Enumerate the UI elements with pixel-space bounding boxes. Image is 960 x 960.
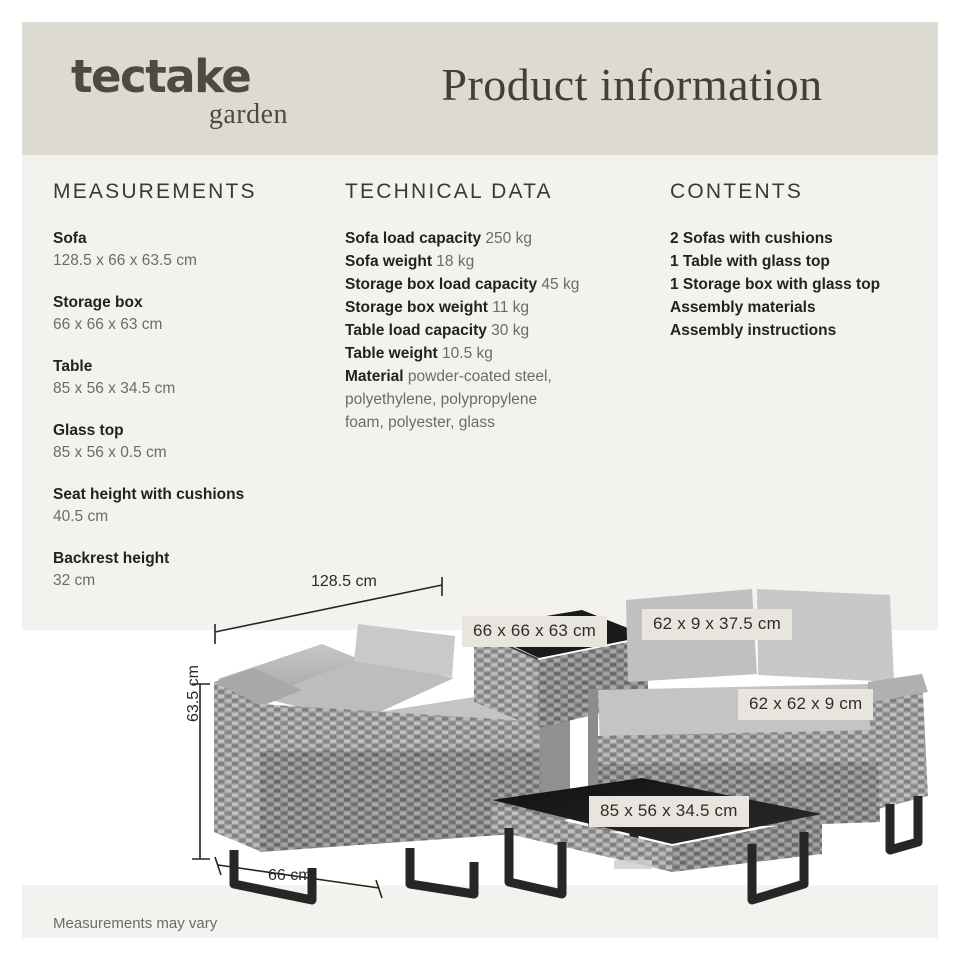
technical-row: Storage box weight 11 kg bbox=[345, 297, 665, 320]
technical-label: Table load capacity bbox=[345, 322, 487, 339]
contents-item: 2 Sofas with cushions bbox=[670, 228, 930, 251]
measurements-column: MEASUREMENTS Sofa 128.5 x 66 x 63.5 cm S… bbox=[53, 180, 338, 612]
technical-row: Storage box load capacity 45 kg bbox=[345, 274, 665, 297]
measurement-name: Backrest height bbox=[53, 548, 338, 570]
header-band: tectake garden Product information bbox=[22, 22, 938, 155]
dimension-label-height: 63.5 cm bbox=[185, 665, 203, 722]
tectake-garden-logo: tectake garden bbox=[71, 54, 291, 129]
technical-row: Table load capacity 30 kg bbox=[345, 320, 665, 343]
measurement-item: Glass top 85 x 56 x 0.5 cm bbox=[53, 420, 338, 465]
dimension-label-width: 128.5 cm bbox=[311, 573, 377, 591]
technical-label: Table weight bbox=[345, 345, 438, 362]
technical-value: 30 kg bbox=[491, 322, 529, 339]
technical-row: Sofa load capacity 250 kg bbox=[345, 228, 665, 251]
measurement-value: 128.5 x 66 x 63.5 cm bbox=[53, 250, 338, 272]
measurement-name: Seat height with cushions bbox=[53, 484, 338, 506]
contents-item: Assembly instructions bbox=[670, 320, 930, 343]
technical-data-heading: TECHNICAL DATA bbox=[345, 180, 665, 204]
measurement-item: Table 85 x 56 x 34.5 cm bbox=[53, 356, 338, 401]
technical-value: 10.5 kg bbox=[442, 345, 493, 362]
measurement-name: Sofa bbox=[53, 228, 338, 250]
contents-column: CONTENTS 2 Sofas with cushions 1 Table w… bbox=[670, 180, 930, 343]
measurement-item: Seat height with cushions 40.5 cm bbox=[53, 484, 338, 529]
technical-data-column: TECHNICAL DATA Sofa load capacity 250 kg… bbox=[345, 180, 665, 434]
logo-wordmark: tectake bbox=[71, 54, 291, 99]
technical-value: 45 kg bbox=[541, 276, 579, 293]
contents-heading: CONTENTS bbox=[670, 180, 930, 204]
contents-item: 1 Storage box with glass top bbox=[670, 274, 930, 297]
technical-label: Sofa load capacity bbox=[345, 230, 481, 247]
measurement-value: 40.5 cm bbox=[53, 506, 338, 528]
logo-subbrand: garden bbox=[71, 101, 291, 129]
material-continuation-line-2: foam, polyester, glass bbox=[345, 412, 665, 435]
measurement-value: 32 cm bbox=[53, 570, 338, 592]
technical-label: Storage box load capacity bbox=[345, 276, 537, 293]
technical-label: Sofa weight bbox=[345, 253, 432, 270]
product-photo-background bbox=[22, 630, 938, 885]
technical-value: 250 kg bbox=[485, 230, 532, 247]
technical-value: 11 kg bbox=[492, 299, 529, 316]
measurement-item: Sofa 128.5 x 66 x 63.5 cm bbox=[53, 228, 338, 273]
measurement-item: Backrest height 32 cm bbox=[53, 548, 338, 593]
measurement-name: Table bbox=[53, 356, 338, 378]
measurement-item: Storage box 66 x 66 x 63 cm bbox=[53, 292, 338, 337]
measurements-heading: MEASUREMENTS bbox=[53, 180, 338, 204]
callout-table: 85 x 56 x 34.5 cm bbox=[589, 796, 749, 827]
page-title: Product information bbox=[352, 58, 912, 111]
technical-label: Storage box weight bbox=[345, 299, 488, 316]
contents-item: Assembly materials bbox=[670, 297, 930, 320]
callout-backrest-cushion: 62 x 9 x 37.5 cm bbox=[642, 609, 792, 640]
technical-row: Sofa weight 18 kg bbox=[345, 251, 665, 274]
callout-seat-cushion: 62 x 62 x 9 cm bbox=[738, 689, 873, 720]
measurement-value: 85 x 56 x 0.5 cm bbox=[53, 442, 338, 464]
technical-value: 18 kg bbox=[436, 253, 474, 270]
footer-disclaimer: Measurements may vary bbox=[53, 915, 217, 932]
measurement-value: 85 x 56 x 34.5 cm bbox=[53, 378, 338, 400]
contents-item: 1 Table with glass top bbox=[670, 251, 930, 274]
measurement-name: Storage box bbox=[53, 292, 338, 314]
measurement-name: Glass top bbox=[53, 420, 338, 442]
product-information-sheet: tectake garden Product information MEASU… bbox=[22, 22, 938, 938]
dimension-label-depth: 66 cm bbox=[268, 867, 312, 885]
technical-value: powder-coated steel, bbox=[408, 368, 552, 385]
technical-row: Material powder-coated steel, bbox=[345, 366, 665, 389]
technical-row: Table weight 10.5 kg bbox=[345, 343, 665, 366]
technical-label: Material bbox=[345, 368, 404, 385]
callout-storage-box: 66 x 66 x 63 cm bbox=[462, 616, 607, 647]
measurement-value: 66 x 66 x 63 cm bbox=[53, 314, 338, 336]
material-continuation-line-1: polyethylene, polypropylene bbox=[345, 389, 665, 412]
